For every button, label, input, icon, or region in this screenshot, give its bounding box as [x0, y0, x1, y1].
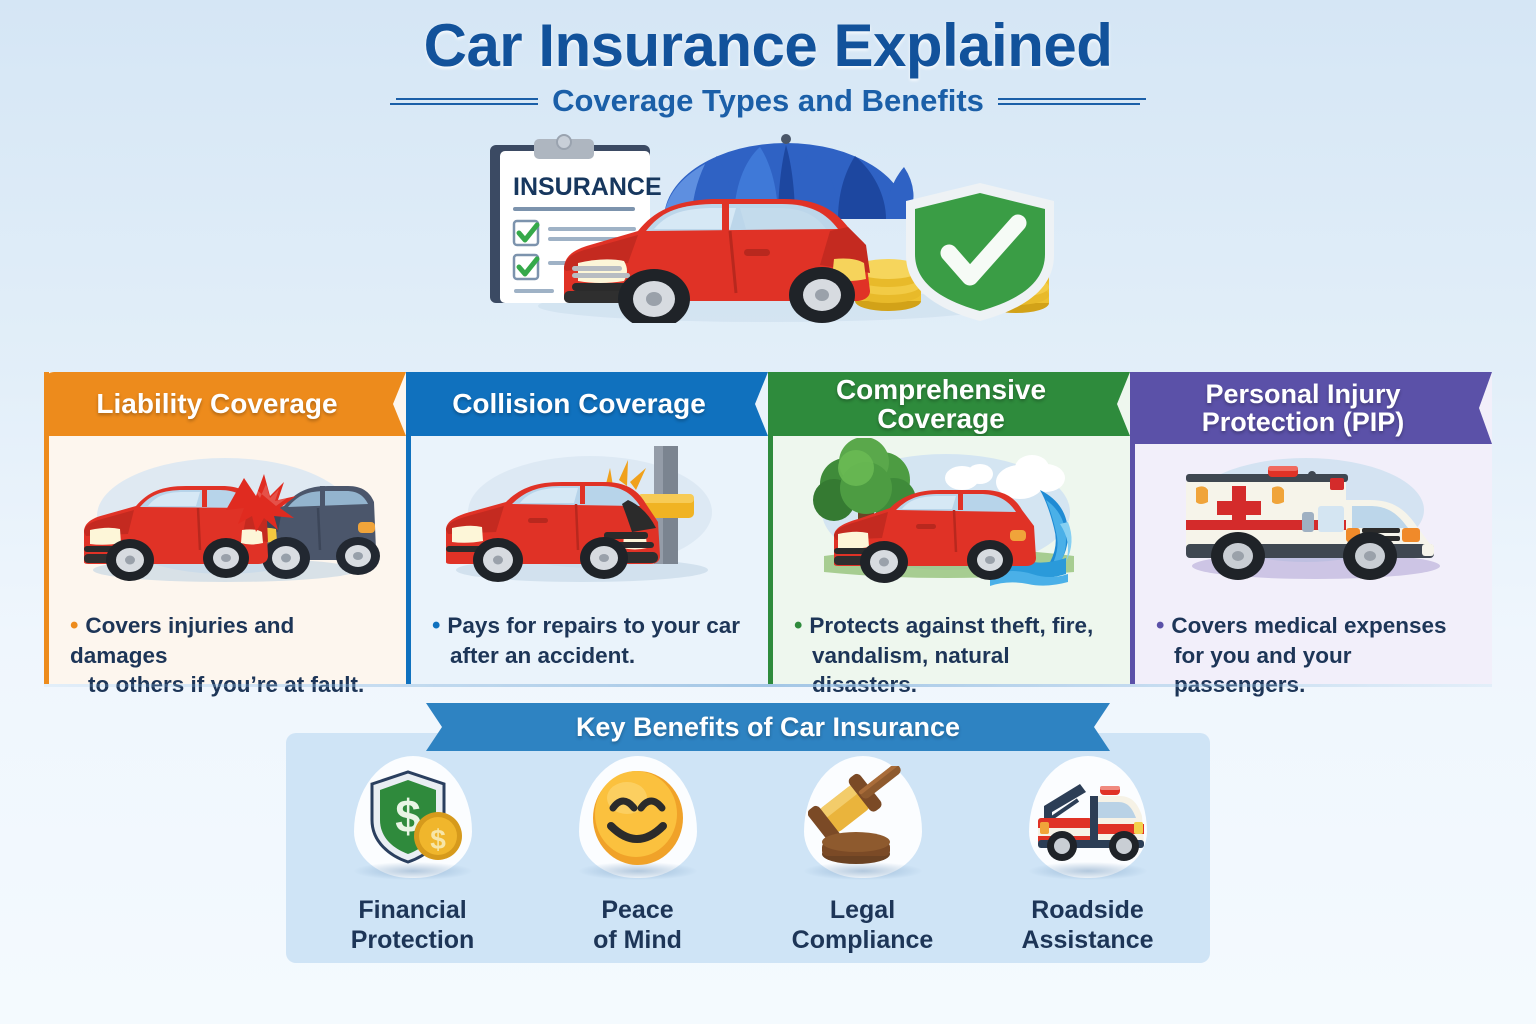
benefit-label: Legal Compliance — [792, 896, 934, 955]
benefit-label: Peace of Mind — [593, 896, 682, 955]
bullet-line-1: Covers medical expenses — [1171, 613, 1446, 638]
bullet-marker: • — [1156, 612, 1164, 639]
tree-car-flood-icon — [768, 438, 1130, 606]
benefits-banner-title: Key Benefits of Car Insurance — [576, 712, 960, 743]
svg-text:$: $ — [430, 824, 446, 855]
shield-dollar-coin-icon: $ $ — [330, 762, 495, 882]
benefit-label-line-2: Protection — [351, 926, 475, 954]
benefit-label-line-1: Roadside — [1031, 896, 1144, 924]
smiley-face-icon — [555, 762, 720, 882]
coverage-card-comprehensive[interactable]: Comprehensive Coverage — [768, 372, 1130, 684]
clipboard-label: INSURANCE — [513, 173, 662, 201]
benefit-label-line-2: of Mind — [593, 926, 682, 954]
card-title: Personal Injury Protection (PIP) — [1202, 380, 1405, 437]
infographic-header: Car Insurance Explained Coverage Types a… — [0, 0, 1536, 119]
car-hits-pole-icon — [406, 438, 768, 606]
bullet-line-1: Pays for repairs to your car — [447, 613, 740, 638]
coverage-card-liability[interactable]: Liability Coverage — [44, 372, 406, 684]
page-title: Car Insurance Explained — [0, 14, 1536, 77]
gavel-icon — [780, 762, 945, 882]
hero-scene: INSURANCE — [468, 123, 1068, 323]
cards-divider — [44, 684, 1492, 687]
benefit-label-line-1: Legal — [830, 896, 895, 924]
card-title: Collision Coverage — [452, 389, 706, 418]
subtitle-rule-left — [390, 97, 538, 106]
bullet-line-2: for you and your passengers. — [1174, 641, 1476, 700]
card-title: Liability Coverage — [96, 389, 337, 418]
coverage-card-collision[interactable]: Collision Coverage — [406, 372, 768, 684]
benefit-label-line-2: Compliance — [792, 926, 934, 954]
benefit-label-line-1: Peace — [601, 896, 673, 924]
card-banner: Personal Injury Protection (PIP) — [1130, 372, 1492, 444]
benefits-row: $ $ Financial Protection Pe — [300, 762, 1200, 962]
card-title-line-1: Personal Injury — [1205, 379, 1400, 409]
two-cars-collision-icon — [44, 438, 406, 606]
page-subtitle: Coverage Types and Benefits — [552, 83, 984, 119]
benefit-financial-protection[interactable]: $ $ Financial Protection — [300, 762, 525, 962]
bullet-line-1: Covers injuries and damages — [70, 613, 294, 668]
card-bullet: •Pays for repairs to your car after an a… — [432, 610, 752, 670]
subtitle-rule-right — [998, 97, 1146, 106]
bullet-marker: • — [70, 612, 78, 639]
benefit-label: Financial Protection — [351, 896, 475, 955]
bullet-line-2: vandalism, natural disasters. — [812, 641, 1114, 700]
bullet-line-2: after an accident. — [450, 641, 752, 670]
card-banner: Liability Coverage — [44, 372, 406, 436]
tow-truck-icon — [1005, 762, 1170, 882]
bullet-marker: • — [432, 612, 440, 639]
benefit-legal-compliance[interactable]: Legal Compliance — [750, 762, 975, 962]
subtitle-row: Coverage Types and Benefits — [0, 83, 1536, 119]
coverage-card-pip[interactable]: Personal Injury Protection (PIP) — [1130, 372, 1492, 684]
benefit-label: Roadside Assistance — [1021, 896, 1153, 955]
card-banner: Collision Coverage — [406, 372, 768, 436]
hero-illustration: INSURANCE — [0, 123, 1536, 338]
benefit-roadside-assistance[interactable]: Roadside Assistance — [975, 762, 1200, 962]
coverage-cards: Liability Coverage — [44, 372, 1492, 684]
bullet-line-1: Protects against theft, fire, — [809, 613, 1093, 638]
benefit-label-line-2: Assistance — [1021, 926, 1153, 954]
card-banner: Comprehensive Coverage — [768, 372, 1130, 436]
benefits-banner: Key Benefits of Car Insurance — [426, 703, 1110, 751]
bullet-marker: • — [794, 612, 802, 639]
card-title: Comprehensive Coverage — [782, 375, 1100, 434]
ambulance-icon — [1130, 448, 1492, 616]
benefit-peace-of-mind[interactable]: Peace of Mind — [525, 762, 750, 962]
benefit-label-line-1: Financial — [358, 896, 466, 924]
card-title-line-2: Protection (PIP) — [1202, 407, 1405, 437]
